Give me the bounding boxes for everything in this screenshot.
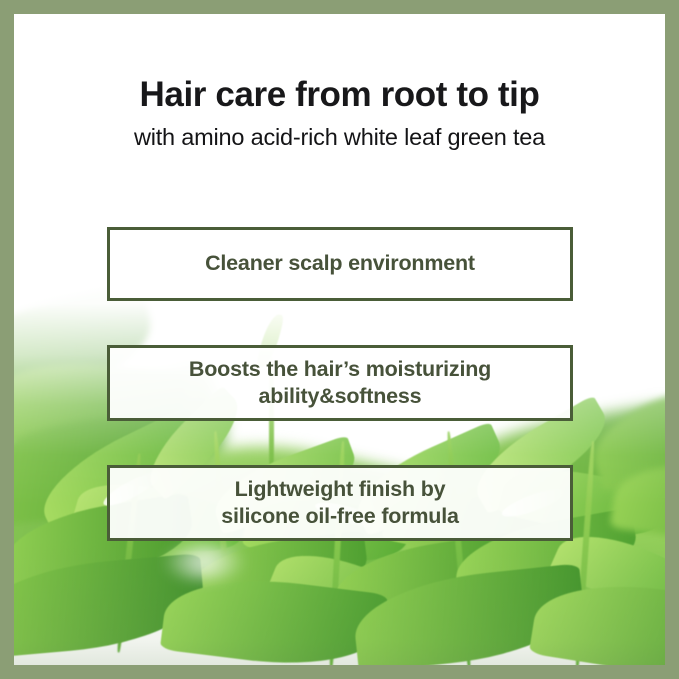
benefit-box-3: Lightweight finish by silicone oil-free … [107, 465, 573, 541]
benefit-text-2: Boosts the hair’s moisturizing ability&s… [189, 356, 491, 410]
benefit-text-3: Lightweight finish by silicone oil-free … [221, 476, 459, 530]
benefit-3-line-2: silicone oil-free formula [221, 504, 459, 528]
card-canvas: Hair care from root to tip with amino ac… [14, 14, 665, 665]
headline-block: Hair care from root to tip with amino ac… [14, 74, 665, 151]
benefit-1-line-1: Cleaner scalp environment [205, 251, 475, 275]
benefit-box-1: Cleaner scalp environment [107, 227, 573, 301]
benefit-text-1: Cleaner scalp environment [205, 250, 475, 277]
product-feature-card: Hair care from root to tip with amino ac… [0, 0, 679, 679]
benefit-3-line-1: Lightweight finish by [235, 477, 446, 501]
benefit-list: Cleaner scalp environment Boosts the hai… [107, 227, 573, 541]
benefit-2-line-2: ability&softness [259, 384, 422, 408]
page-title: Hair care from root to tip [14, 74, 665, 115]
page-subtitle: with amino acid-rich white leaf green te… [14, 123, 665, 151]
benefit-box-2: Boosts the hair’s moisturizing ability&s… [107, 345, 573, 421]
benefit-2-line-1: Boosts the hair’s moisturizing [189, 357, 491, 381]
